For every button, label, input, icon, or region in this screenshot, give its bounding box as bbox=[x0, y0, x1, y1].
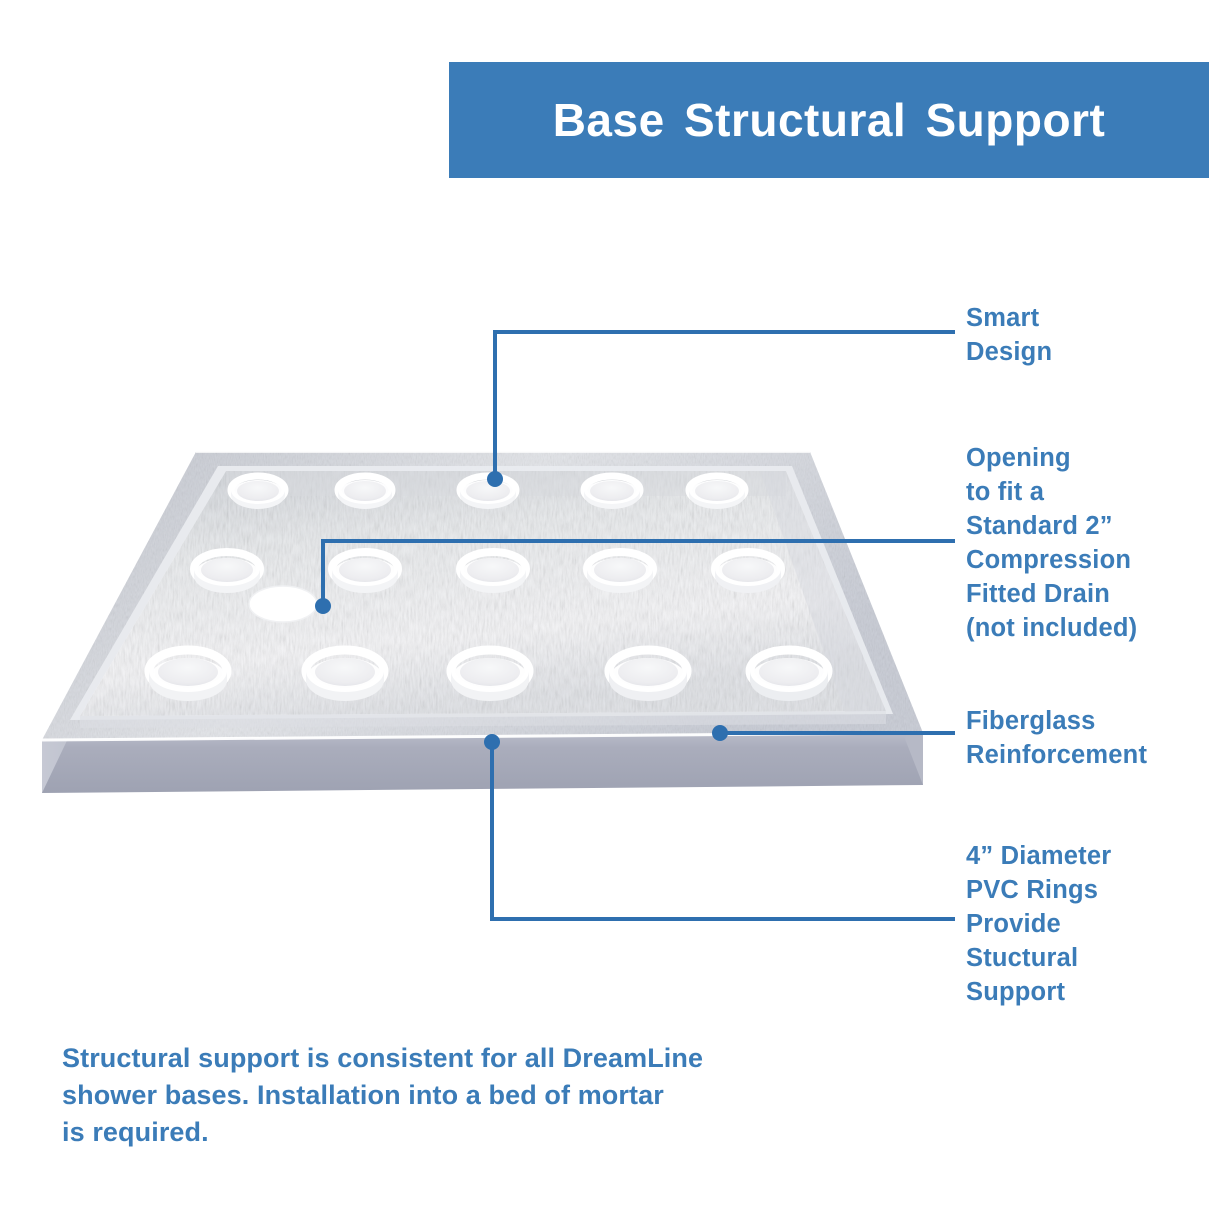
pvc-ring bbox=[750, 650, 828, 701]
pvc-ring bbox=[194, 552, 260, 593]
pvc-ring bbox=[609, 650, 687, 701]
base-interior-shading bbox=[80, 471, 886, 728]
pvc-ring bbox=[149, 650, 227, 701]
base-front-edge bbox=[42, 733, 923, 740]
base-right-face bbox=[810, 452, 923, 785]
base-left-face bbox=[42, 452, 196, 793]
pvc-ring bbox=[584, 476, 640, 509]
base-front-face bbox=[42, 733, 923, 793]
leader-line-smart-design bbox=[495, 332, 955, 476]
pvc-ring bbox=[715, 552, 781, 593]
shower-base-body bbox=[42, 452, 923, 793]
pvc-ring bbox=[451, 650, 529, 701]
oval-drain-opening bbox=[249, 586, 317, 622]
footer-caption: Structural support is consistent for all… bbox=[62, 1040, 822, 1151]
pvc-ring bbox=[338, 476, 392, 509]
leader-dot-smart-design bbox=[487, 471, 503, 487]
leader-line-drain bbox=[323, 541, 955, 602]
pvc-ring bbox=[306, 650, 384, 701]
leader-line-pvc-rings bbox=[492, 746, 955, 919]
callout-label-drain-opening: Opening to fit a Standard 2” Compression… bbox=[966, 442, 1208, 645]
page-title: Base Structural Support bbox=[553, 93, 1106, 147]
header-banner: Base Structural Support bbox=[449, 62, 1209, 178]
base-top-surface bbox=[42, 452, 923, 740]
leader-dot-drain bbox=[315, 598, 331, 614]
base-curb-inner-edge bbox=[70, 466, 893, 720]
pvc-ring bbox=[587, 552, 653, 593]
pvc-ring bbox=[460, 476, 516, 509]
leader-dot-pvc-rings bbox=[484, 734, 500, 750]
callout-label-fiberglass-reinforcement: Fiberglass Reinforcement bbox=[966, 705, 1208, 773]
leader-dot-fiberglass bbox=[712, 725, 728, 741]
pvc-ring bbox=[231, 476, 285, 509]
leader-lines bbox=[315, 332, 955, 919]
base-floor-pan bbox=[80, 471, 886, 716]
callout-label-smart-design: Smart Design bbox=[966, 302, 1206, 370]
pvc-ring bbox=[332, 552, 398, 593]
callout-label-pvc-rings: 4” Diameter PVC Rings Provide Stuctural … bbox=[966, 840, 1208, 1010]
pvc-ring bbox=[689, 476, 745, 509]
pvc-ring-group bbox=[149, 476, 828, 701]
pvc-ring bbox=[460, 552, 526, 593]
